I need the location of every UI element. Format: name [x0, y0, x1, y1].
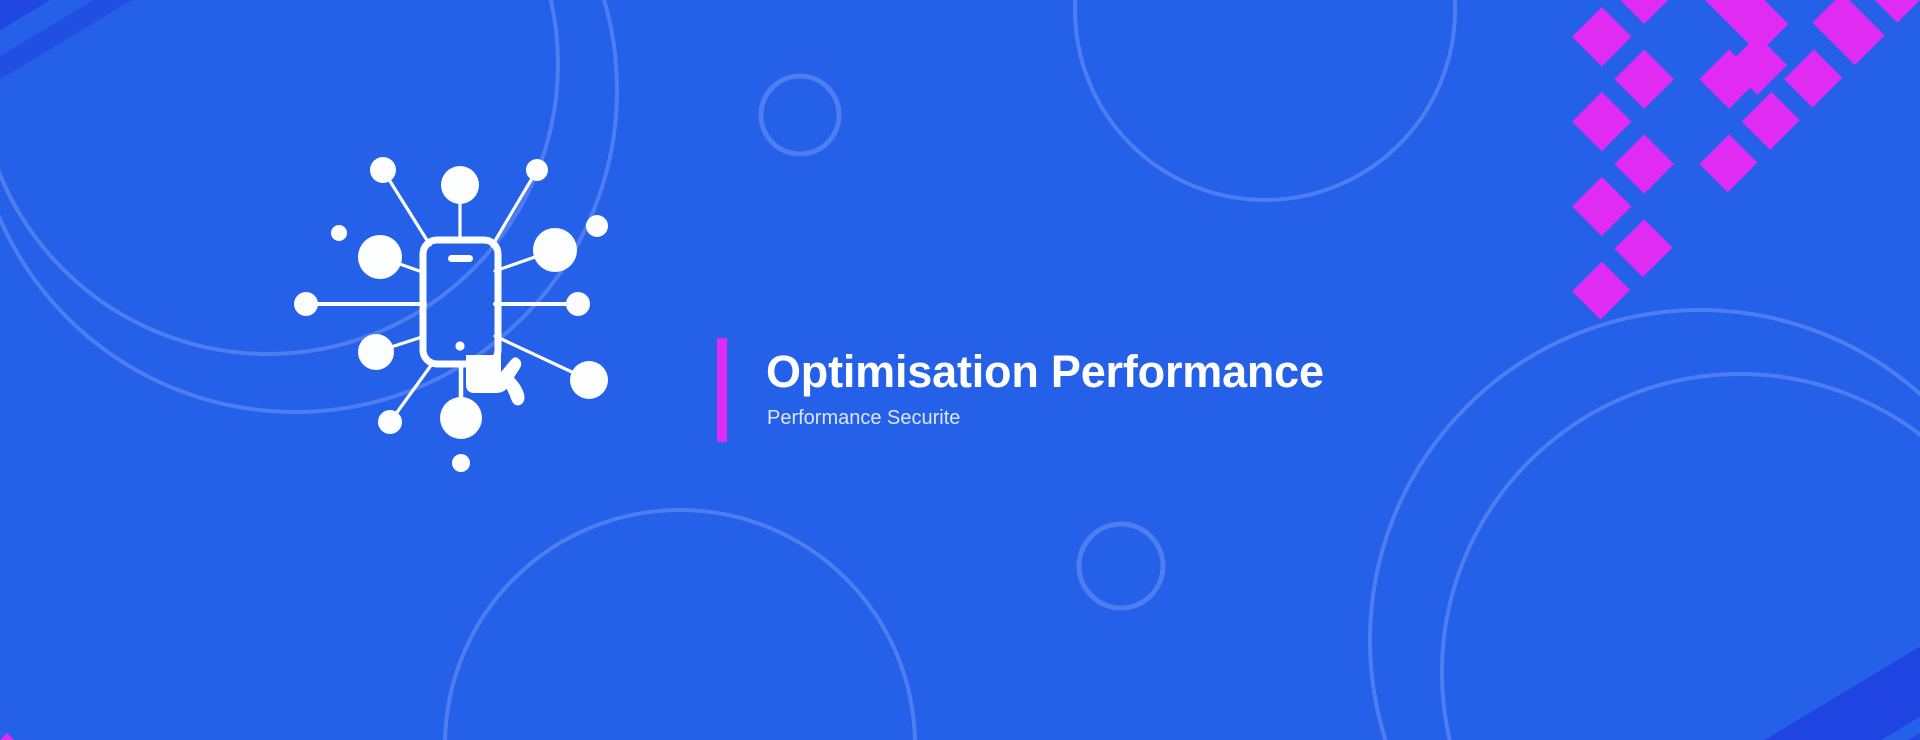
- node-bottom-center: [440, 397, 482, 439]
- node-right-small-top: [586, 215, 608, 237]
- node-top-center: [441, 166, 479, 204]
- ring-top-center-large: [1075, 0, 1455, 200]
- stripe-group-bottom-right: [1570, 393, 1920, 740]
- network-links: [306, 170, 589, 422]
- stripe-br-1: [1570, 393, 1920, 740]
- banner-text-block: Optimisation Performance Performance Sec…: [717, 336, 1324, 442]
- ring-bottom-center-large: [445, 510, 915, 740]
- page-title: Optimisation Performance: [766, 348, 1324, 395]
- node-left-small-upper: [331, 225, 347, 241]
- ring-bottom-right-inner: [1442, 374, 1920, 740]
- magenta-accent-bar: [717, 338, 727, 442]
- mobile-network-illustration: [230, 140, 690, 500]
- stripe-tl-1: [0, 0, 608, 144]
- hero-banner: Optimisation Performance Performance Sec…: [0, 0, 1920, 740]
- node-lower-right: [570, 361, 608, 399]
- node-left-large: [358, 235, 402, 279]
- node-top-right-outer: [526, 159, 548, 181]
- node-right-far: [566, 292, 590, 316]
- link-top-left-line: [383, 170, 430, 245]
- stripe-br-2: [1608, 457, 1920, 740]
- node-bottom-tiny: [452, 454, 470, 472]
- phone-home-button: [455, 341, 464, 350]
- ring-small-lower: [1079, 524, 1163, 608]
- ring-bottom-right-outer: [1370, 310, 1920, 740]
- node-right-large: [533, 228, 577, 272]
- node-bottom-left-small: [378, 410, 402, 434]
- banner-text-column: Optimisation Performance Performance Sec…: [766, 336, 1324, 442]
- node-lower-left: [358, 334, 394, 370]
- node-left-far: [294, 292, 318, 316]
- node-top-left-outer: [370, 157, 396, 183]
- page-subtitle: Performance Securite: [767, 406, 1324, 430]
- phone-speaker: [448, 255, 473, 262]
- magenta-cluster-bottom-left: [0, 712, 354, 740]
- network-nodes: [294, 157, 608, 472]
- link-top-right-line: [492, 170, 537, 246]
- ring-small-upper: [761, 76, 839, 154]
- smartphone-icon: [423, 240, 498, 364]
- magenta-cluster-top-right: [1275, 0, 1920, 320]
